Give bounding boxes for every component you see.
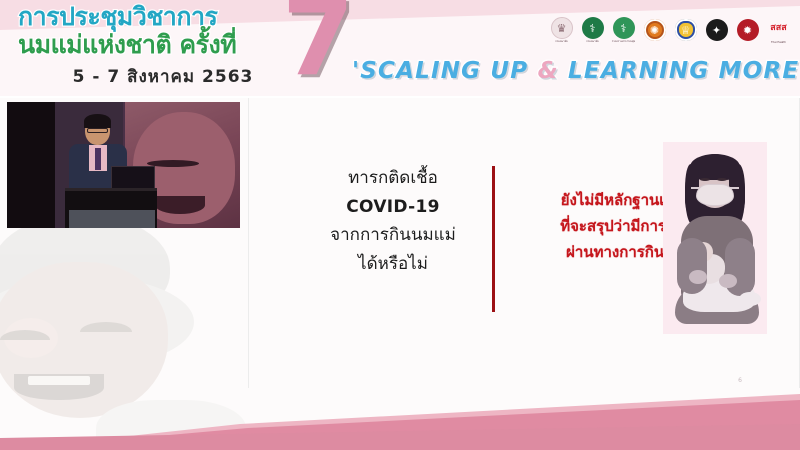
tagline-part1: 'SCALING UP xyxy=(352,58,538,84)
red-crest-logo: ✹ xyxy=(734,19,761,42)
black-circle-logo-icon: ✦ xyxy=(706,19,728,41)
conference-header-banner: การประชุมวิชาการ นมแม่แห่งชาติ ครั้งที่ … xyxy=(0,0,800,98)
face-mask-icon xyxy=(696,184,734,206)
question-line-2: COVID-19 xyxy=(300,193,486,222)
royal-seal-logo-caption: กรมอนามัย xyxy=(555,40,568,44)
speaker-presentation-video-thumbnail[interactable] xyxy=(7,102,240,228)
conference-title-line1: การประชุมวิชาการ xyxy=(18,4,308,30)
thaihealth-sss-logo: สสส Thai Health xyxy=(765,18,792,44)
video-speaker-glasses xyxy=(87,128,108,133)
vertical-red-divider xyxy=(492,166,495,312)
mother-eye-right xyxy=(717,178,727,181)
video-speaker-hair xyxy=(84,114,111,128)
video-speaker-tie xyxy=(95,148,101,170)
public-health-logo-icon: ⚕ xyxy=(613,17,635,39)
public-health-logo: ⚕ กระทรวงสาธารณสุข xyxy=(610,17,637,44)
video-dark-wall xyxy=(7,102,55,228)
thai-emblem-logo: ✺ xyxy=(641,19,668,42)
mother-hand-right xyxy=(719,274,737,288)
question-line-1: ทารกติดเชื้อ xyxy=(300,164,486,193)
tagline-part2: LEARNING MORE' xyxy=(559,58,800,84)
conference-title-block: การประชุมวิชาการ นมแม่แห่งชาติ ครั้งที่ … xyxy=(18,4,308,90)
slide-screenshot: การประชุมวิชาการ นมแม่แห่งชาติ ครั้งที่ … xyxy=(0,0,800,450)
ministry-health-logo-caption: กรมอนามัย xyxy=(586,40,599,44)
royal-crest-logo-icon: ♕ xyxy=(675,19,697,41)
thaihealth-sss-logo-icon: สสส xyxy=(768,18,790,40)
masked-mother-breastfeeding-illustration xyxy=(663,142,767,334)
ministry-health-logo-icon: ⚕ xyxy=(582,17,604,39)
conference-dates: 5 - 7 สิงหาคม 2563 xyxy=(18,63,308,90)
question-line-3: จากการกินนมแม่ xyxy=(300,221,486,250)
red-crest-logo-icon: ✹ xyxy=(737,19,759,41)
royal-seal-logo-icon: ♛ xyxy=(551,17,573,39)
slide-content-area: ทารกติดเชื้อ COVID-19 จากการกินนมแม่ ได้… xyxy=(0,98,800,450)
ministry-health-logo: ⚕ กรมอนามัย xyxy=(579,17,606,44)
thai-emblem-logo-icon: ✺ xyxy=(644,19,666,41)
conference-tagline: 'SCALING UP & LEARNING MORE' xyxy=(352,58,800,84)
question-line-4: ได้หรือไม่ xyxy=(300,250,486,279)
video-baby-mouth xyxy=(155,196,205,214)
thaihealth-sss-logo-caption: Thai Health xyxy=(771,41,786,44)
mother-hand-left xyxy=(689,270,707,284)
bottom-pink-decorative-band xyxy=(0,378,800,450)
black-circle-logo: ✦ xyxy=(703,19,730,42)
mother-arm-left xyxy=(677,238,707,294)
royal-crest-logo: ♕ xyxy=(672,19,699,42)
public-health-logo-caption: กระทรวงสาธารณสุข xyxy=(612,40,635,44)
mother-foot xyxy=(739,292,761,306)
video-podium-glass xyxy=(69,210,155,228)
conference-title-line2: นมแม่แห่งชาติ ครั้งที่ xyxy=(18,32,308,58)
royal-seal-logo: ♛ กรมอนามัย xyxy=(548,17,575,44)
sponsor-logo-strip: ♛ กรมอนามัย ⚕ กรมอนามัย ⚕ กระทรวงสาธารณส… xyxy=(548,17,792,44)
mother-eye-left xyxy=(700,178,710,181)
tagline-ampersand: & xyxy=(538,58,559,84)
question-text-block: ทารกติดเชื้อ COVID-19 จากการกินนมแม่ ได้… xyxy=(300,164,486,278)
